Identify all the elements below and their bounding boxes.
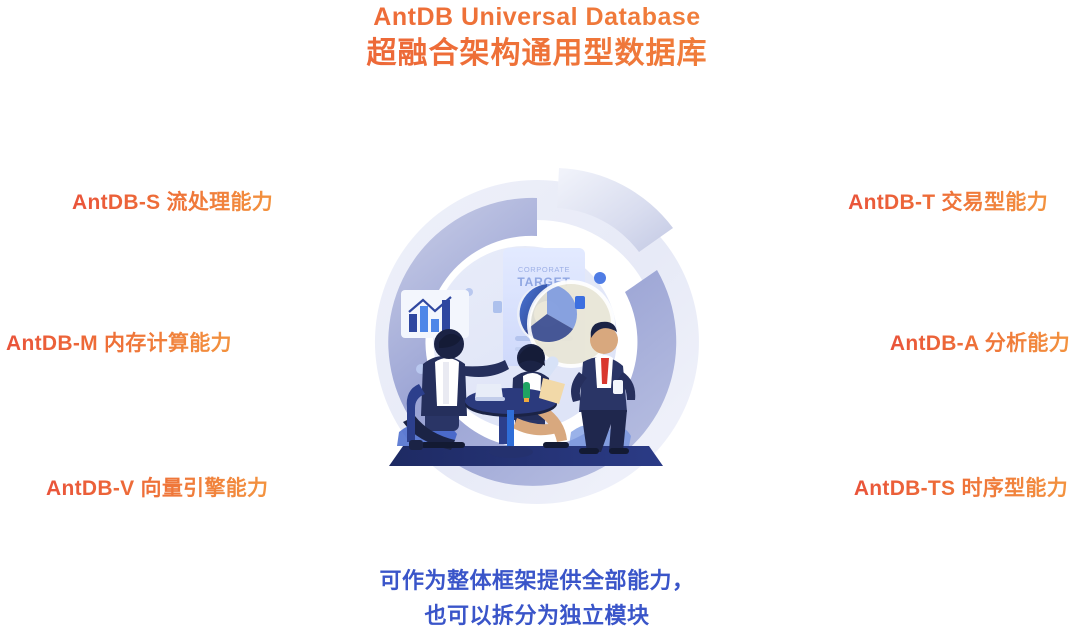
page-title: AntDB Universal Database 超融合架构通用型数据库: [0, 2, 1074, 74]
capability-label-antdb-ts: AntDB-TS 时序型能力: [854, 472, 1068, 502]
central-illustration: CORPORATE TARGET: [357, 166, 717, 536]
bottom-caption-line-1: 可作为整体框架提供全部能力，: [0, 563, 1074, 598]
poster-line-1: CORPORATE: [518, 265, 570, 274]
page-title-chinese: 超融合架构通用型数据库: [0, 34, 1074, 74]
capability-label-antdb-s: AntDB-S 流处理能力: [72, 186, 273, 216]
capability-label-antdb-m: AntDB-M 内存计算能力: [6, 327, 232, 357]
capability-label-antdb-v: AntDB-V 向量引擎能力: [46, 472, 268, 502]
capability-label-antdb-t: AntDB-T 交易型能力: [848, 186, 1048, 216]
capability-label-antdb-a: AntDB-A 分析能力: [890, 327, 1070, 357]
bar-chart-card: [401, 290, 469, 338]
bottom-caption: 可作为整体框架提供全部能力， 也可以拆分为独立模块: [0, 563, 1074, 633]
bottom-caption-line-2: 也可以拆分为独立模块: [0, 598, 1074, 633]
page-title-english: AntDB Universal Database: [0, 2, 1074, 32]
